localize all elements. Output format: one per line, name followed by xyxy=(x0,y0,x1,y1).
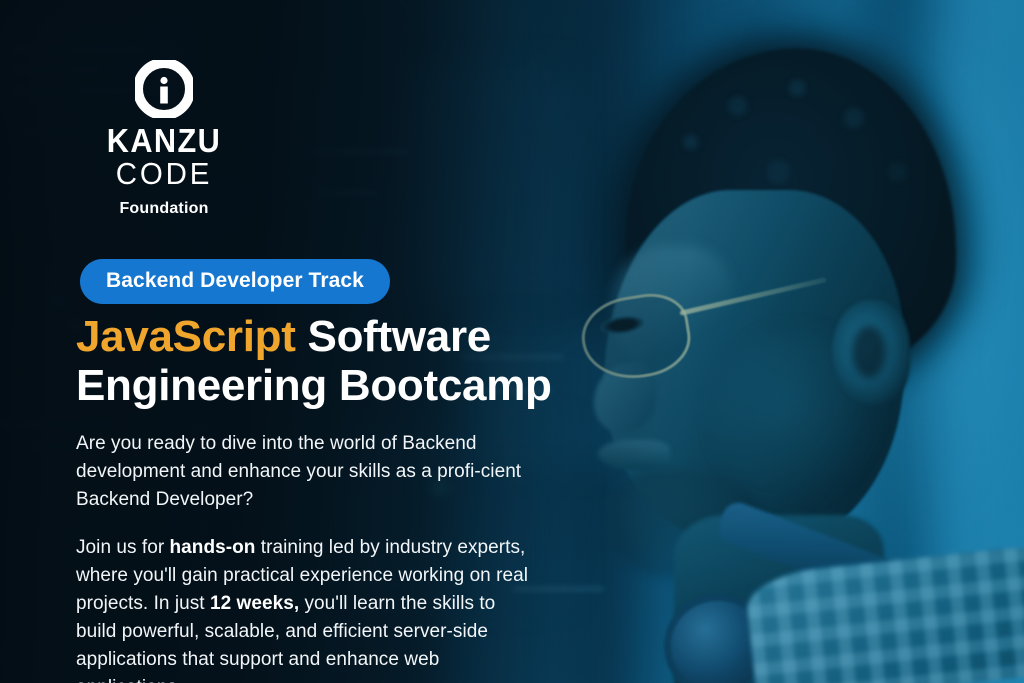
headline-rest-line1: Software xyxy=(296,312,491,361)
details-bold-hands-on: hands-on xyxy=(170,537,256,558)
headline-line2: Engineering Bootcamp xyxy=(76,361,552,410)
brand-wordmark-kanzu: KANZU xyxy=(82,124,246,157)
kanzu-ring-figure-logo-icon xyxy=(135,60,193,118)
promo-poster: KANZU CODE Foundation Backend Developer … xyxy=(0,0,1024,683)
details-bold-duration: 12 weeks, xyxy=(210,593,299,614)
track-badge[interactable]: Backend Developer Track xyxy=(80,259,390,304)
intro-paragraph: Are you ready to dive into the world of … xyxy=(76,430,528,514)
details-paragraph: Join us for hands-on training led by ind… xyxy=(76,534,536,683)
headline-accent-word: JavaScript xyxy=(76,312,296,361)
page-title: JavaScript Software Engineering Bootcamp xyxy=(76,312,616,411)
intro-paragraph-part-a: Are you ready to dive into the world of … xyxy=(76,433,481,482)
brand-wordmark-code: CODE xyxy=(80,158,247,191)
brand-logo-lockup[interactable]: KANZU CODE Foundation xyxy=(76,60,252,218)
brand-wordmark-foundation: Foundation xyxy=(76,200,252,218)
details-segment-1: Join us for xyxy=(76,537,170,558)
poster-content: KANZU CODE Foundation Backend Developer … xyxy=(76,0,636,683)
